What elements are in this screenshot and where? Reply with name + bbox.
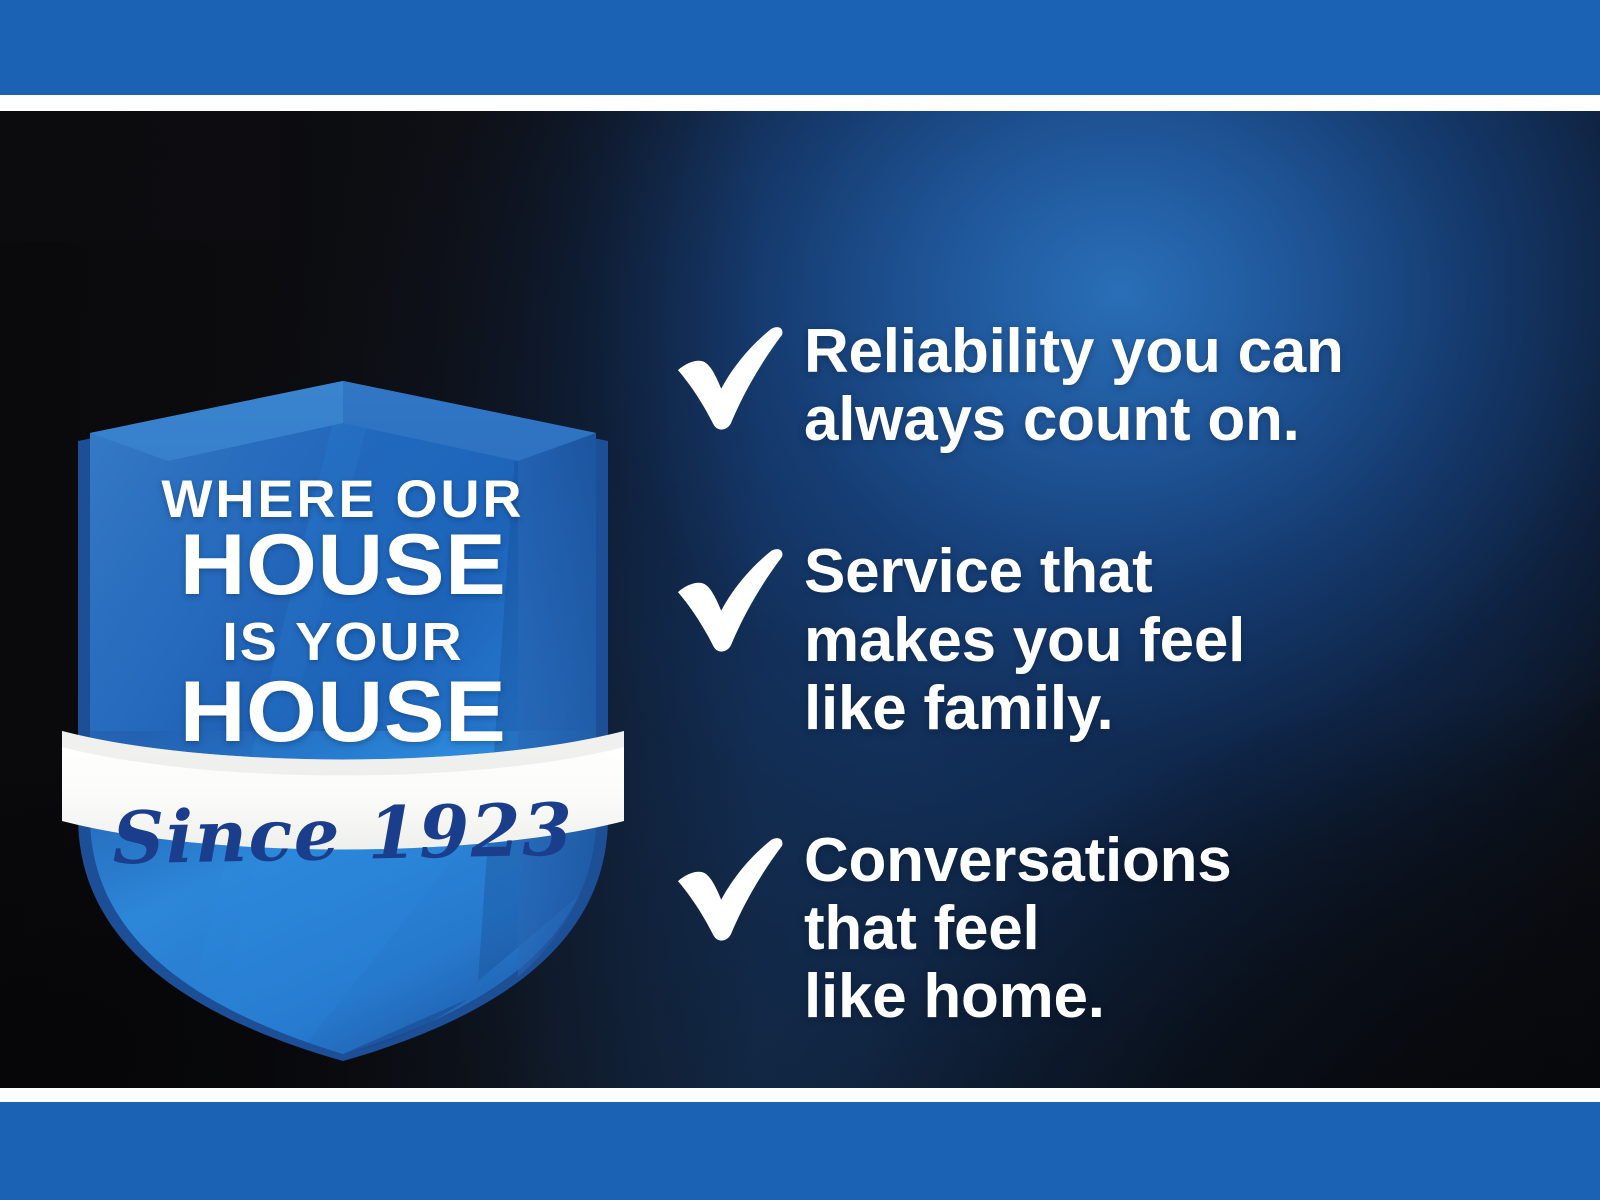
checkmark-glyph bbox=[672, 546, 790, 654]
ribbon-since-text: Since 1923 bbox=[47, 785, 639, 881]
bottom-white-divider bbox=[0, 1088, 1600, 1102]
checkmark-icon bbox=[672, 546, 804, 654]
benefit-text-service: Service that makes you feel like family. bbox=[804, 538, 1245, 743]
shield-emblem: WHERE OUR HOUSE IS YOUR HOUSE Since 1923 bbox=[48, 261, 638, 1061]
top-brand-bar bbox=[0, 0, 1600, 95]
main-canvas: WHERE OUR HOUSE IS YOUR HOUSE Since 1923… bbox=[0, 111, 1600, 1088]
benefit-text-reliability: Reliability you can always count on. bbox=[804, 316, 1344, 454]
lockup-line-house-1: HOUSE bbox=[30, 526, 655, 605]
checkmark-icon bbox=[672, 835, 804, 943]
bottom-brand-bar bbox=[0, 1102, 1600, 1200]
lockup-line-is-your: IS YOUR bbox=[39, 618, 647, 668]
checkmark-icon bbox=[672, 324, 804, 432]
checkmark-glyph bbox=[672, 324, 790, 432]
benefit-item-conversations: Conversations that feel like home. bbox=[672, 827, 1552, 1032]
benefits-list: Reliability you can always count on. Ser… bbox=[672, 316, 1552, 1032]
benefit-text-conversations: Conversations that feel like home. bbox=[804, 827, 1231, 1032]
benefit-item-reliability: Reliability you can always count on. bbox=[672, 316, 1552, 454]
top-white-divider bbox=[0, 95, 1600, 111]
checkmark-glyph bbox=[672, 835, 790, 943]
promo-graphic: WHERE OUR HOUSE IS YOUR HOUSE Since 1923… bbox=[0, 0, 1600, 1200]
background-noise-texture bbox=[0, 111, 280, 241]
benefit-item-service: Service that makes you feel like family. bbox=[672, 538, 1552, 743]
lockup-line-house-2: HOUSE bbox=[30, 673, 655, 752]
